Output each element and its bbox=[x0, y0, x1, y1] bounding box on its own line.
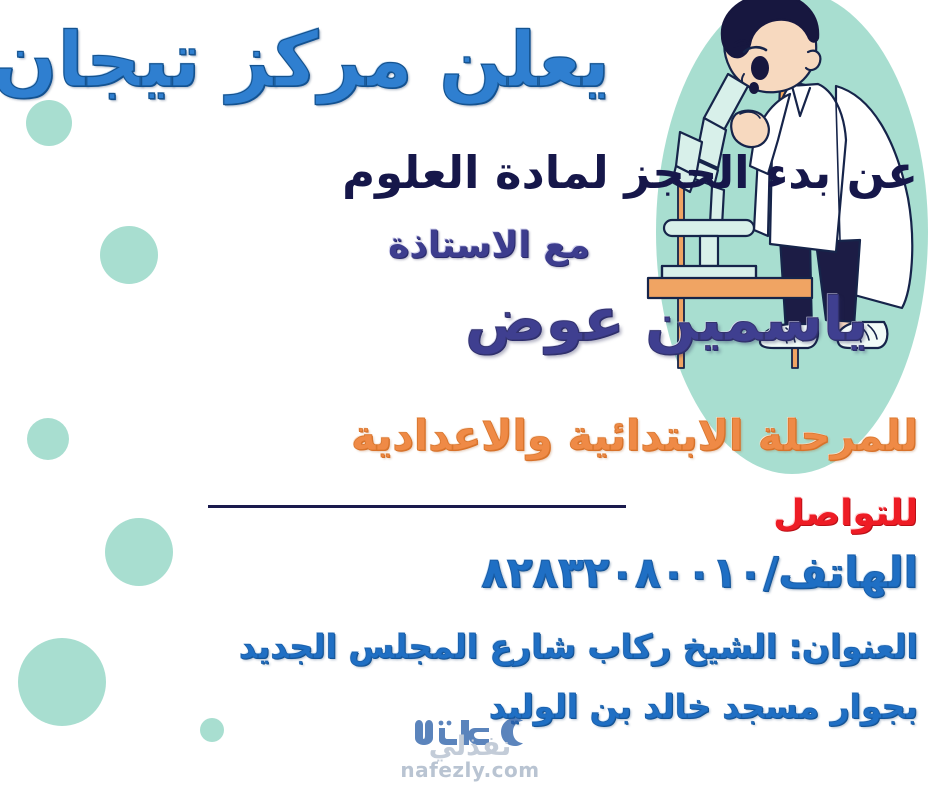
page-title: يعلن مركز تيجان bbox=[0, 22, 610, 98]
contact-heading: للتواصل bbox=[773, 496, 918, 532]
target-stage-label: للمرحلة الابتدائية والاعدادية bbox=[351, 415, 918, 457]
phone-number[interactable]: الهاتف/٠١٠٠٨٠٢٣٨٢٨ bbox=[481, 552, 918, 594]
divider-rule bbox=[208, 505, 626, 508]
scientist-with-microscope-illustration bbox=[640, 0, 940, 475]
poster-canvas: يعلن مركز تيجان عن بدء الحجز لمادة العلو… bbox=[0, 0, 940, 788]
decorative-circle bbox=[18, 638, 106, 726]
teacher-name: ياسمين عوض bbox=[465, 290, 868, 350]
watermark-domain-text: nafezly.com bbox=[400, 758, 539, 782]
address-line-2: بجوار مسجد خالد بن الوليد bbox=[489, 690, 918, 723]
with-teacher-label: مع الاستاذة bbox=[388, 228, 590, 264]
decorative-circle bbox=[100, 226, 158, 284]
decorative-circle bbox=[200, 718, 224, 742]
watermark: نفذلي nafezly.com bbox=[0, 731, 940, 782]
decorative-circle bbox=[26, 100, 72, 146]
watermark-arabic-row: نفذلي bbox=[429, 731, 512, 762]
address-line-1: العنوان: الشيخ ركاب شارع المجلس الجديد bbox=[239, 630, 918, 663]
watermark-arabic-text: نفذلي bbox=[429, 731, 512, 762]
decorative-circle bbox=[27, 418, 69, 460]
decorative-circle bbox=[105, 518, 173, 586]
subtitle-course-announcement: عن بدء الحجز لمادة العلوم bbox=[342, 150, 918, 195]
